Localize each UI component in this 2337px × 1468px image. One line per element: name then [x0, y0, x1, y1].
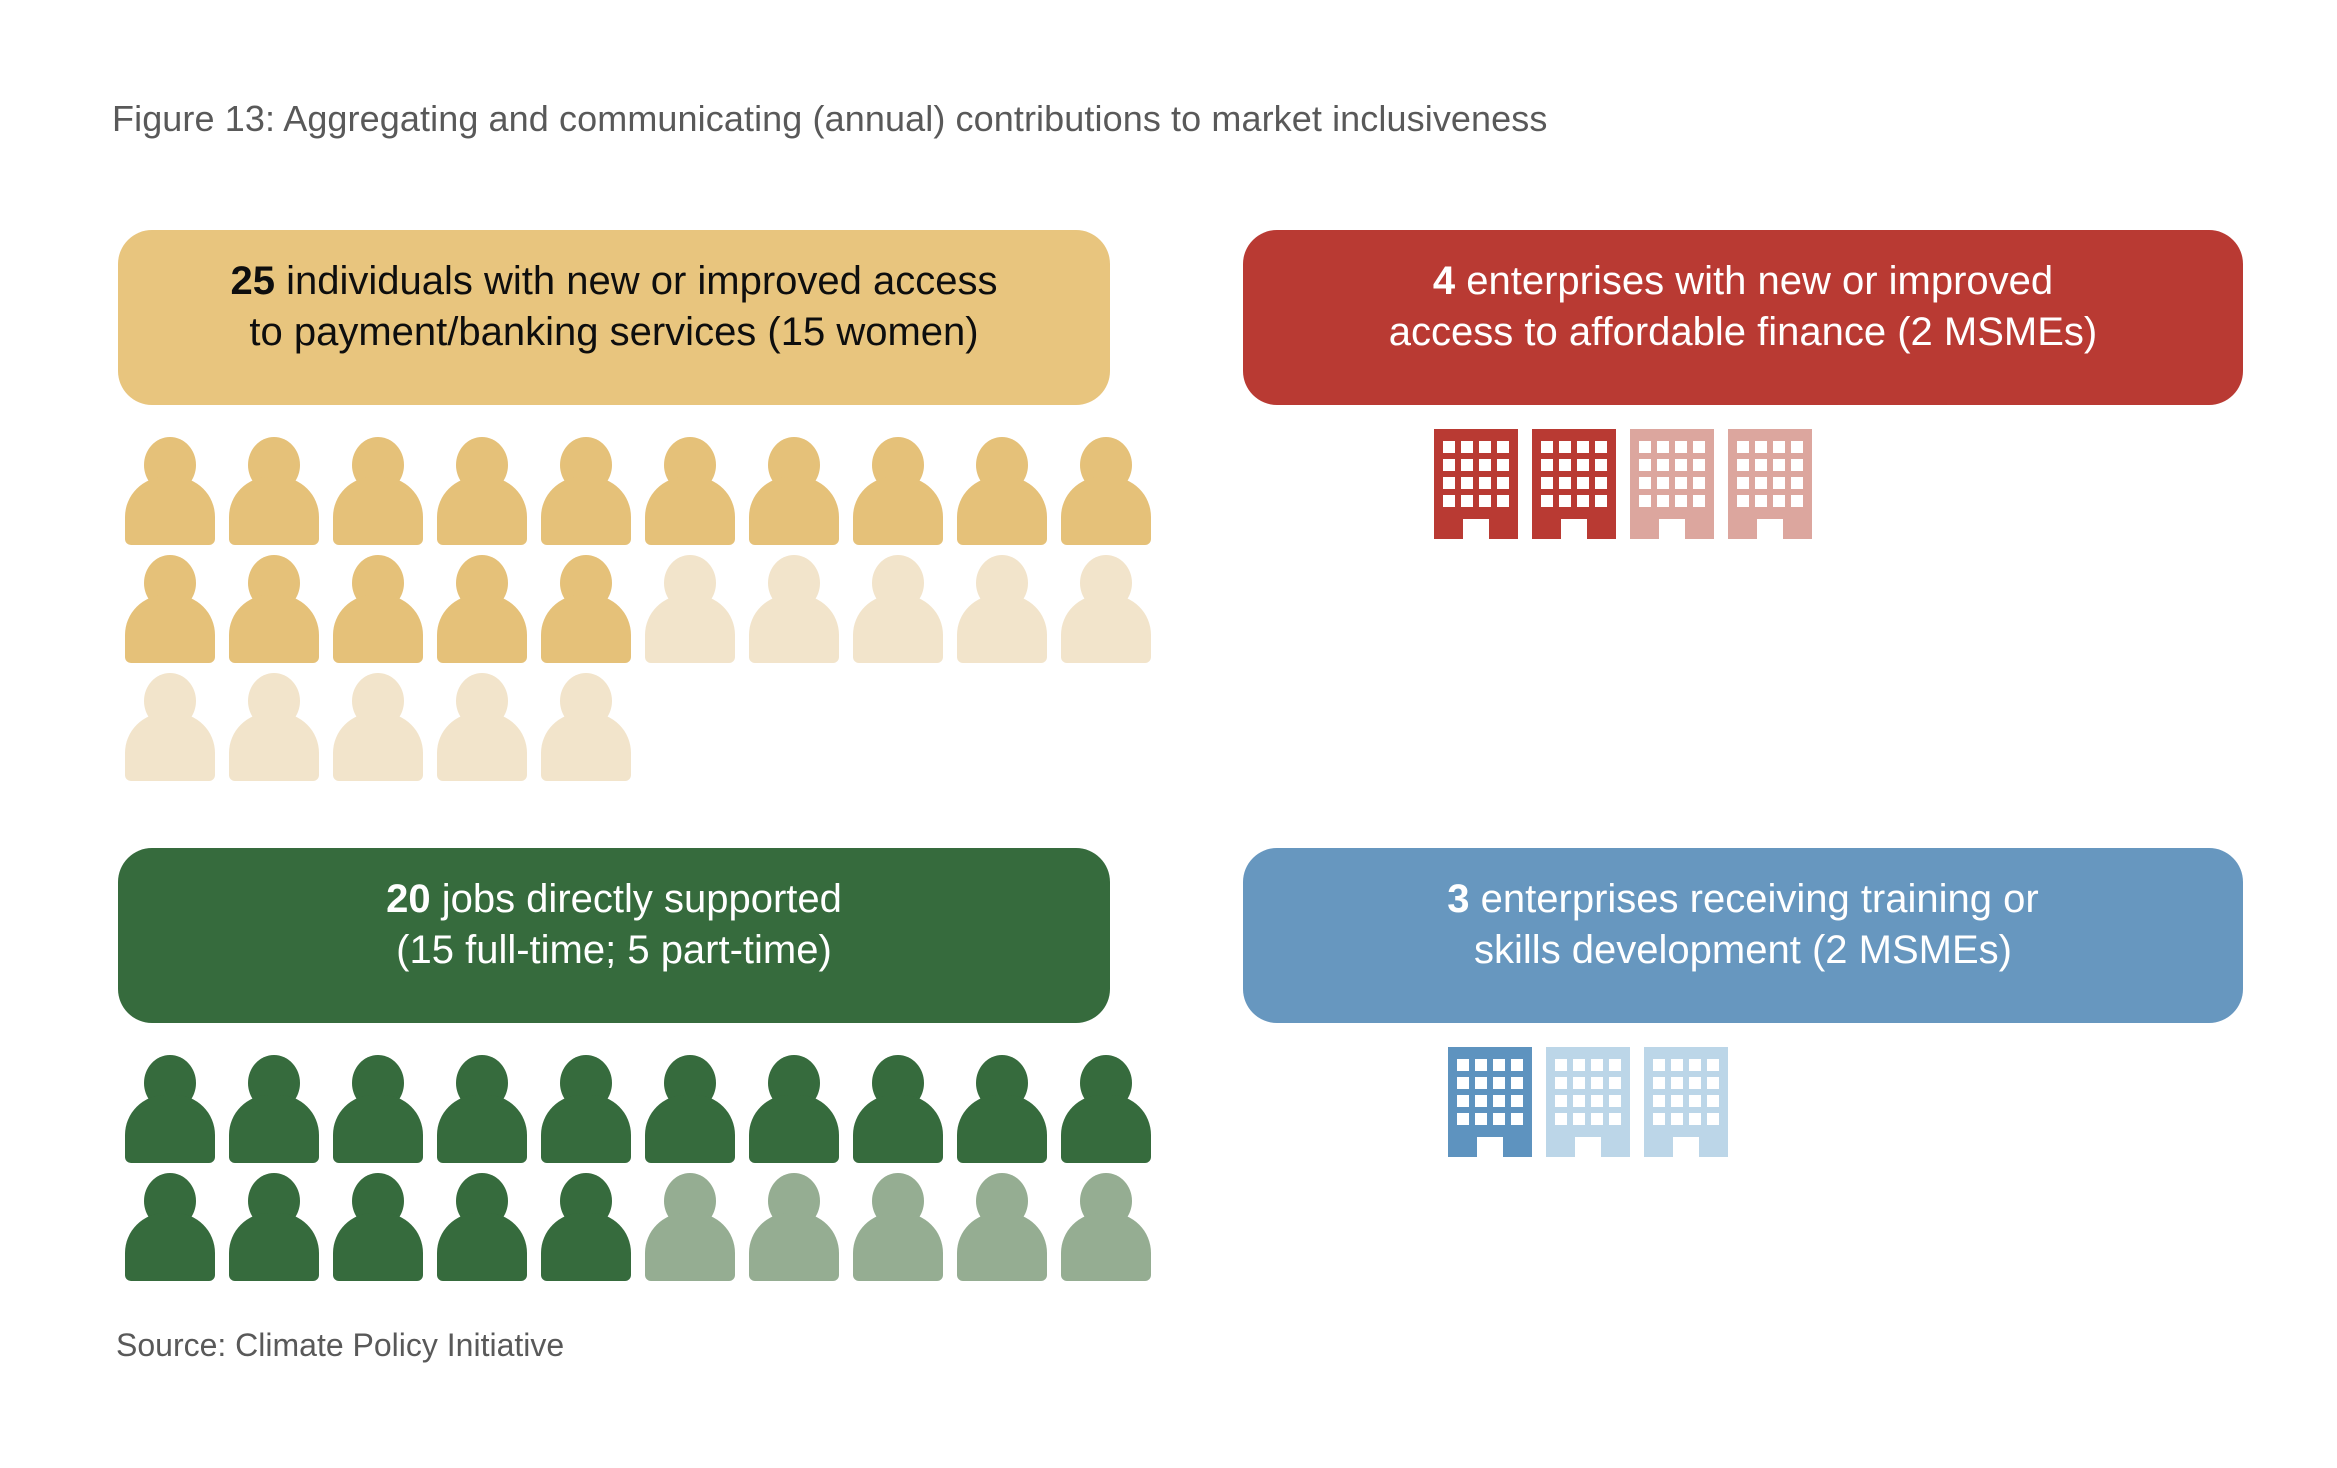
person-icon: [326, 555, 430, 663]
person-body: [645, 595, 735, 663]
callout-lead-number: 20: [386, 877, 431, 921]
person-icon: [118, 437, 222, 545]
person-body: [437, 1095, 527, 1163]
person-body: [645, 477, 735, 545]
panel-enterprises-finance: 4 enterprises with new or improved acces…: [1243, 230, 2243, 539]
person-icon: [430, 555, 534, 663]
building-door: [1757, 519, 1783, 539]
person-icon: [742, 1055, 846, 1163]
callout-line-1-text: jobs directly supported: [431, 877, 842, 921]
person-icon: [846, 555, 950, 663]
pictogram-enterprises-finance: [1243, 429, 2243, 539]
panel-enterprises-training: 3 enterprises receiving training or skil…: [1243, 848, 2243, 1157]
building-icon: [1728, 429, 1812, 539]
person-icon: [846, 1173, 950, 1281]
person-icon: [326, 1055, 430, 1163]
person-icon: [742, 1173, 846, 1281]
person-icon: [118, 1055, 222, 1163]
person-icon: [950, 1173, 1054, 1281]
person-body: [957, 1213, 1047, 1281]
person-icon: [638, 1173, 742, 1281]
building-windows: [1457, 1059, 1523, 1125]
callout-enterprises-finance: 4 enterprises with new or improved acces…: [1243, 230, 2243, 405]
callout-line-2: to payment/banking services (15 women): [152, 307, 1076, 358]
panel-individuals-access: 25 individuals with new or improved acce…: [118, 230, 1110, 781]
person-icon: [118, 673, 222, 781]
callout-line-2: access to affordable finance (2 MSMEs): [1277, 307, 2209, 358]
source-note: Source: Climate Policy Initiative: [116, 1327, 564, 1364]
person-body: [853, 1095, 943, 1163]
person-body: [749, 1213, 839, 1281]
person-body: [125, 1213, 215, 1281]
person-icon: [950, 555, 1054, 663]
person-body: [125, 1095, 215, 1163]
person-icon: [950, 1055, 1054, 1163]
person-icon: [534, 1055, 638, 1163]
callout-line-1: 25 individuals with new or improved acce…: [152, 256, 1076, 307]
building-windows: [1541, 441, 1607, 507]
person-icon: [222, 673, 326, 781]
person-body: [749, 477, 839, 545]
person-body: [541, 477, 631, 545]
person-body: [1061, 595, 1151, 663]
person-body: [541, 1095, 631, 1163]
person-icon: [430, 1055, 534, 1163]
callout-lead-number: 4: [1433, 259, 1455, 303]
person-icon: [638, 437, 742, 545]
person-body: [125, 477, 215, 545]
person-body: [853, 477, 943, 545]
person-body: [957, 595, 1047, 663]
building-windows: [1737, 441, 1803, 507]
person-icon: [534, 1173, 638, 1281]
person-body: [125, 595, 215, 663]
person-body: [541, 1213, 631, 1281]
building-icon: [1448, 1047, 1532, 1157]
building-door: [1659, 519, 1685, 539]
panel-jobs-supported: 20 jobs directly supported (15 full-time…: [118, 848, 1110, 1281]
pictogram-jobs: [118, 1045, 1110, 1281]
person-icon: [118, 555, 222, 663]
pictogram-row: [118, 1045, 1110, 1163]
callout-lead-number: 25: [230, 259, 275, 303]
building-door: [1673, 1137, 1699, 1157]
callout-lead-number: 3: [1447, 877, 1469, 921]
person-body: [333, 595, 423, 663]
person-body: [437, 713, 527, 781]
person-body: [541, 713, 631, 781]
person-body: [645, 1213, 735, 1281]
person-icon: [846, 437, 950, 545]
person-icon: [1054, 555, 1158, 663]
person-body: [229, 477, 319, 545]
pictogram-individuals: [118, 427, 1110, 781]
person-icon: [742, 437, 846, 545]
callout-line-1-text: individuals with new or improved access: [275, 259, 998, 303]
person-body: [749, 1095, 839, 1163]
person-icon: [534, 437, 638, 545]
person-body: [333, 713, 423, 781]
person-icon: [430, 1173, 534, 1281]
person-icon: [326, 1173, 430, 1281]
person-icon: [326, 673, 430, 781]
person-body: [1061, 477, 1151, 545]
callout-line-1-text: enterprises with new or improved: [1455, 259, 2053, 303]
building-windows: [1443, 441, 1509, 507]
building-icon: [1644, 1047, 1728, 1157]
person-body: [333, 477, 423, 545]
callout-line-1-text: enterprises receiving training or: [1470, 877, 2039, 921]
person-body: [541, 595, 631, 663]
person-icon: [1054, 1055, 1158, 1163]
callout-individuals: 25 individuals with new or improved acce…: [118, 230, 1110, 405]
person-body: [229, 1213, 319, 1281]
person-icon: [222, 1173, 326, 1281]
person-body: [957, 1095, 1047, 1163]
person-icon: [430, 673, 534, 781]
building-icon: [1630, 429, 1714, 539]
building-door: [1463, 519, 1489, 539]
person-body: [437, 595, 527, 663]
person-icon: [742, 555, 846, 663]
person-body: [853, 1213, 943, 1281]
callout-line-1: 20 jobs directly supported: [152, 874, 1076, 925]
pictogram-row: [118, 545, 1110, 663]
building-icon: [1434, 429, 1518, 539]
callout-line-1: 3 enterprises receiving training or: [1277, 874, 2209, 925]
person-body: [333, 1095, 423, 1163]
person-icon: [1054, 437, 1158, 545]
figure-title: Figure 13: Aggregating and communicating…: [112, 98, 1547, 140]
callout-line-2: skills development (2 MSMEs): [1277, 925, 2209, 976]
person-body: [229, 713, 319, 781]
building-icon: [1546, 1047, 1630, 1157]
person-icon: [638, 1055, 742, 1163]
person-body: [1061, 1213, 1151, 1281]
person-icon: [222, 1055, 326, 1163]
pictogram-row: [118, 427, 1110, 545]
person-icon: [846, 1055, 950, 1163]
person-body: [749, 595, 839, 663]
building-door: [1561, 519, 1587, 539]
callout-line-2: (15 full-time; 5 part-time): [152, 925, 1076, 976]
person-icon: [950, 437, 1054, 545]
person-icon: [118, 1173, 222, 1281]
person-body: [437, 477, 527, 545]
person-icon: [222, 555, 326, 663]
person-icon: [534, 673, 638, 781]
person-icon: [430, 437, 534, 545]
person-body: [645, 1095, 735, 1163]
building-icon: [1532, 429, 1616, 539]
person-icon: [326, 437, 430, 545]
building-door: [1575, 1137, 1601, 1157]
person-body: [229, 1095, 319, 1163]
callout-jobs: 20 jobs directly supported (15 full-time…: [118, 848, 1110, 1023]
person-body: [1061, 1095, 1151, 1163]
person-icon: [1054, 1173, 1158, 1281]
pictogram-row: [118, 1163, 1110, 1281]
person-body: [957, 477, 1047, 545]
building-windows: [1555, 1059, 1621, 1125]
callout-enterprises-training: 3 enterprises receiving training or skil…: [1243, 848, 2243, 1023]
person-body: [437, 1213, 527, 1281]
person-body: [125, 713, 215, 781]
person-icon: [638, 555, 742, 663]
pictogram-enterprises-training: [1243, 1047, 2243, 1157]
person-icon: [534, 555, 638, 663]
pictogram-row: [118, 663, 1110, 781]
person-icon: [222, 437, 326, 545]
person-body: [333, 1213, 423, 1281]
building-windows: [1639, 441, 1705, 507]
callout-line-1: 4 enterprises with new or improved: [1277, 256, 2209, 307]
person-body: [229, 595, 319, 663]
building-windows: [1653, 1059, 1719, 1125]
person-body: [853, 595, 943, 663]
building-door: [1477, 1137, 1503, 1157]
